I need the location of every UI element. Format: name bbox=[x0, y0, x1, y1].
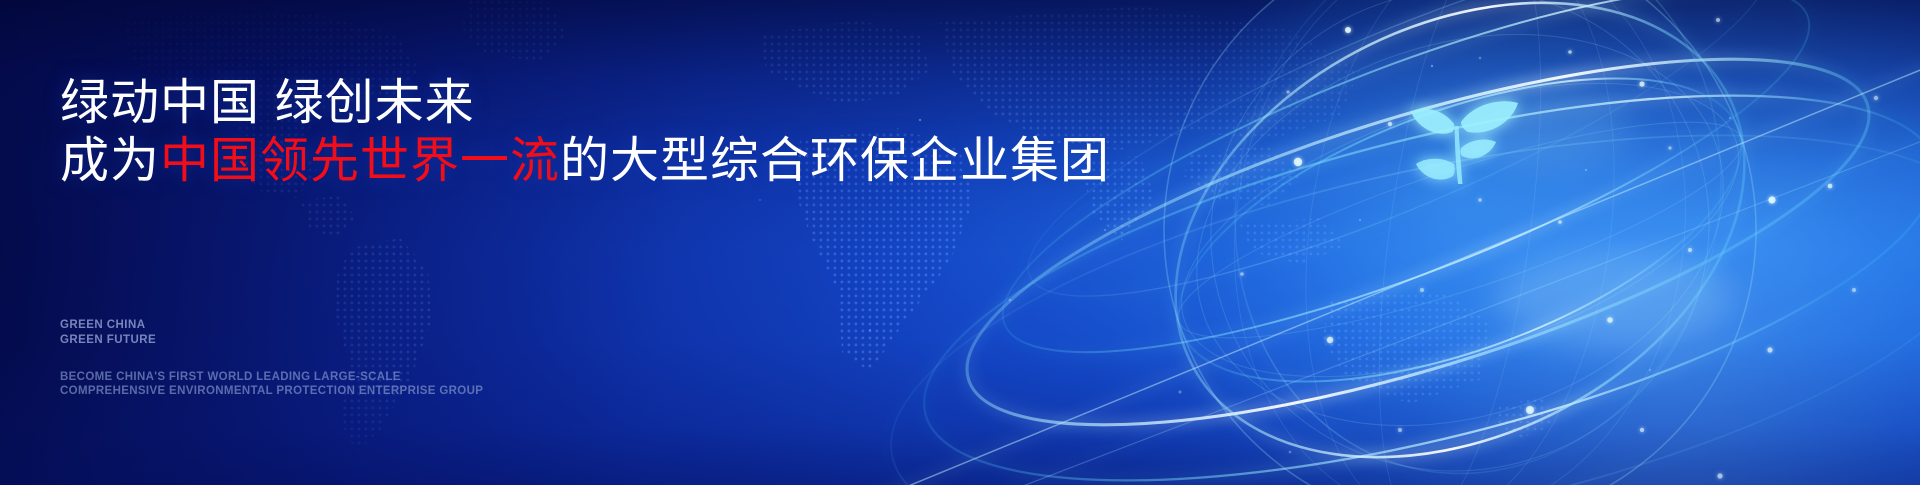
subtitle-line-1: BECOME CHINA'S FIRST WORLD LEADING LARGE… bbox=[60, 370, 483, 384]
tagline-line-2: GREEN FUTURE bbox=[60, 333, 156, 348]
subtitle-line-2: COMPREHENSIVE ENVIRONMENTAL PROTECTION E… bbox=[60, 384, 483, 398]
tagline-block: GREEN CHINA GREEN FUTURE bbox=[60, 318, 156, 348]
subtitle-block: BECOME CHINA'S FIRST WORLD LEADING LARGE… bbox=[60, 370, 483, 398]
headline-line-2-suffix: 的大型综合环保企业集团 bbox=[560, 134, 1110, 188]
headline-block: 绿动中国 绿创未来 成为中国领先世界一流的大型综合环保企业集团 bbox=[60, 76, 1060, 189]
headline-line-2: 成为中国领先世界一流的大型综合环保企业集团 bbox=[60, 134, 1060, 189]
tagline-line-1: GREEN CHINA bbox=[60, 318, 156, 333]
headline-line-2-highlight: 中国领先世界一流 bbox=[160, 134, 560, 188]
hero-banner: 绿动中国 绿创未来 成为中国领先世界一流的大型综合环保企业集团 GREEN CH… bbox=[0, 0, 1920, 485]
headline-line-2-prefix: 成为 bbox=[60, 134, 160, 188]
banner-content: 绿动中国 绿创未来 成为中国领先世界一流的大型综合环保企业集团 GREEN CH… bbox=[60, 0, 1060, 485]
headline-line-1: 绿动中国 绿创未来 bbox=[60, 76, 1060, 131]
